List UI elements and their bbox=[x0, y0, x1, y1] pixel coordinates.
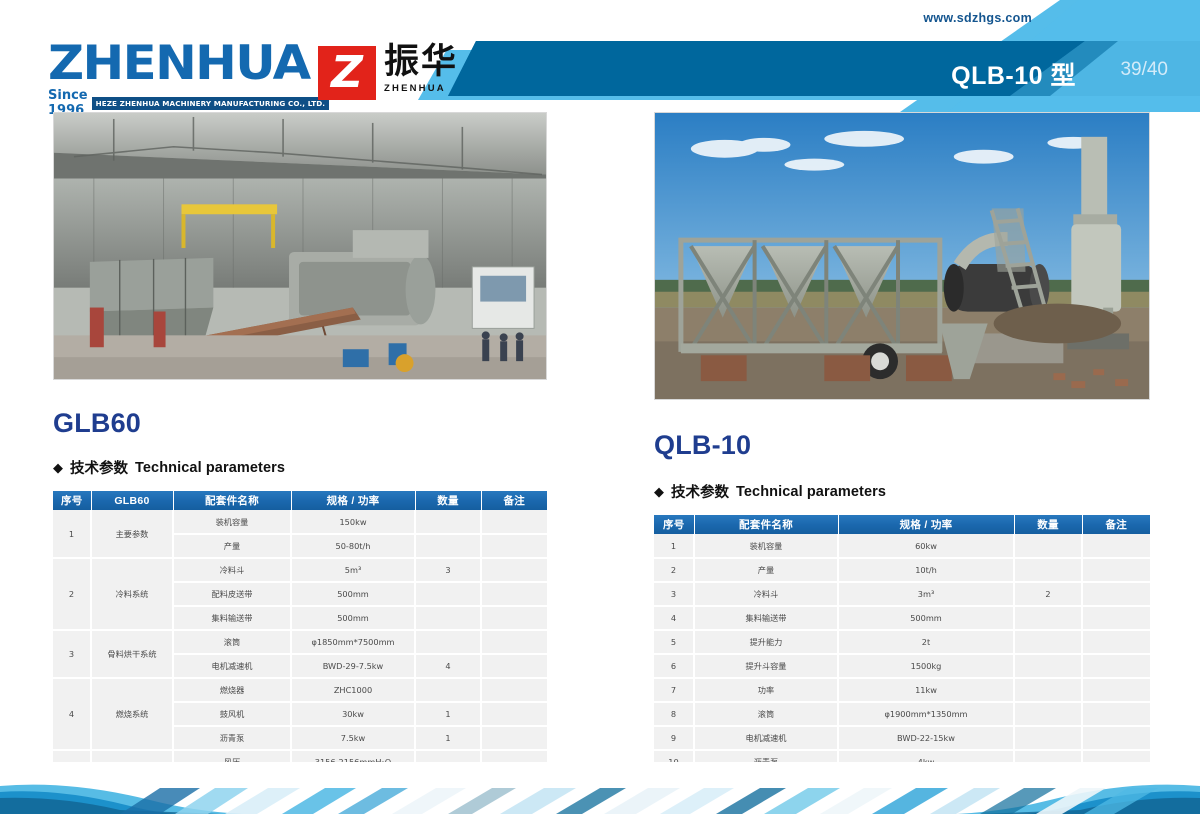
column-header-3: 规格 / 功率 bbox=[838, 515, 1014, 534]
row-index: 1 bbox=[53, 510, 91, 558]
column-header-5: 数量 bbox=[415, 491, 481, 510]
component-spec: 2t bbox=[838, 630, 1014, 654]
left-column: GLB60 ◆ 技术参数 Technical parameters 序号GLB6… bbox=[53, 112, 547, 814]
component-qty bbox=[415, 630, 481, 654]
component-qty bbox=[415, 582, 481, 606]
component-qty: 3 bbox=[415, 558, 481, 582]
table-row: 1装机容量60kw bbox=[654, 534, 1150, 558]
right-section-cn: 技术参数 bbox=[671, 481, 729, 502]
brand-z-letter: Z bbox=[318, 46, 376, 100]
component-qty: 1 bbox=[415, 726, 481, 750]
component-note bbox=[481, 510, 547, 534]
column-header-5: 备注 bbox=[1082, 515, 1150, 534]
component-name: 电机减速机 bbox=[173, 654, 291, 678]
footer-ribbon-graphic bbox=[0, 762, 1200, 814]
row-group-name: 冷料系统 bbox=[91, 558, 173, 630]
table-row: 1主要参数装机容量150kw bbox=[53, 510, 547, 534]
table-row: 8滚筒φ1900mm*1350mm bbox=[654, 702, 1150, 726]
qlb10-plant-photo bbox=[654, 112, 1150, 400]
component-name: 冷料斗 bbox=[173, 558, 291, 582]
page-number: 39/40 bbox=[1120, 59, 1168, 81]
right-column: QLB-10 ◆ 技术参数 Technical parameters 序号配套件… bbox=[654, 112, 1150, 814]
row-group-name: 燃烧系统 bbox=[91, 678, 173, 750]
row-index: 4 bbox=[53, 678, 91, 750]
component-name: 提升能力 bbox=[694, 630, 838, 654]
component-name: 集料输送带 bbox=[173, 606, 291, 630]
column-header-6: 备注 bbox=[481, 491, 547, 510]
component-name: 冷料斗 bbox=[694, 582, 838, 606]
component-name: 装机容量 bbox=[694, 534, 838, 558]
component-qty bbox=[1014, 726, 1082, 750]
component-name: 功率 bbox=[694, 678, 838, 702]
page-root: www.sdzhgs.com ZHENHUA Since 1996 HEZE Z… bbox=[0, 0, 1200, 814]
component-spec: BWD-29-7.5kw bbox=[291, 654, 415, 678]
table-row: 6提升斗容量1500kg bbox=[654, 654, 1150, 678]
component-qty: 4 bbox=[415, 654, 481, 678]
table-row: 4集料输送带500mm bbox=[654, 606, 1150, 630]
right-section-heading: ◆ 技术参数 Technical parameters bbox=[654, 481, 1150, 502]
component-note bbox=[1082, 582, 1150, 606]
header-model-title: QLB-10 型 bbox=[951, 56, 1076, 92]
diamond-bullet-icon: ◆ bbox=[53, 461, 63, 474]
website-url[interactable]: www.sdzhgs.com bbox=[923, 11, 1032, 25]
component-spec: 3m³ bbox=[838, 582, 1014, 606]
component-spec: 500mm bbox=[291, 582, 415, 606]
brand-chinese-name: 振华 bbox=[384, 44, 458, 81]
brand-chinese: 振华 ZHENHUA bbox=[384, 44, 458, 94]
row-index: 4 bbox=[654, 606, 694, 630]
left-model-title: GLB60 bbox=[53, 408, 547, 439]
component-note bbox=[481, 630, 547, 654]
component-spec: 10t/h bbox=[838, 558, 1014, 582]
page-footer-ribbon bbox=[0, 762, 1200, 814]
table-row: 2产量10t/h bbox=[654, 558, 1150, 582]
component-spec: 60kw bbox=[838, 534, 1014, 558]
component-qty bbox=[1014, 654, 1082, 678]
component-spec: 500mm bbox=[838, 606, 1014, 630]
component-qty bbox=[1014, 534, 1082, 558]
row-group-name: 主要参数 bbox=[91, 510, 173, 558]
component-name: 燃烧器 bbox=[173, 678, 291, 702]
table-header-row: 序号GLB60配套件名称规格 / 功率数量备注 bbox=[53, 491, 547, 510]
component-qty bbox=[1014, 558, 1082, 582]
component-spec: φ1850mm*7500mm bbox=[291, 630, 415, 654]
component-spec: 1500kg bbox=[838, 654, 1014, 678]
component-qty bbox=[415, 678, 481, 702]
component-name: 产量 bbox=[173, 534, 291, 558]
component-name: 集料输送带 bbox=[694, 606, 838, 630]
component-spec: 500mm bbox=[291, 606, 415, 630]
component-qty bbox=[1014, 702, 1082, 726]
row-index: 3 bbox=[53, 630, 91, 678]
right-model-title: QLB-10 bbox=[654, 430, 1150, 461]
left-section-en: Technical parameters bbox=[135, 460, 285, 476]
component-note bbox=[481, 702, 547, 726]
component-qty bbox=[1014, 606, 1082, 630]
component-note bbox=[481, 606, 547, 630]
component-spec: 11kw bbox=[838, 678, 1014, 702]
component-spec: BWD-22-15kw bbox=[838, 726, 1014, 750]
component-note bbox=[1082, 702, 1150, 726]
component-name: 沥青泵 bbox=[173, 726, 291, 750]
component-spec: ZHC1000 bbox=[291, 678, 415, 702]
column-header-2: 配套件名称 bbox=[694, 515, 838, 534]
component-qty: 1 bbox=[415, 702, 481, 726]
component-note bbox=[481, 558, 547, 582]
component-name: 鼓风机 bbox=[173, 702, 291, 726]
component-spec: 5m³ bbox=[291, 558, 415, 582]
component-note bbox=[1082, 630, 1150, 654]
column-header-1: 序号 bbox=[53, 491, 91, 510]
table-row: 3骨料烘干系统滚筒φ1850mm*7500mm bbox=[53, 630, 547, 654]
component-note bbox=[1082, 534, 1150, 558]
row-index: 5 bbox=[654, 630, 694, 654]
component-spec: 150kw bbox=[291, 510, 415, 534]
row-index: 6 bbox=[654, 654, 694, 678]
component-qty: 2 bbox=[1014, 582, 1082, 606]
component-name: 滚筒 bbox=[694, 702, 838, 726]
component-note bbox=[481, 678, 547, 702]
table-row: 2冷料系统冷料斗5m³3 bbox=[53, 558, 547, 582]
component-name: 产量 bbox=[694, 558, 838, 582]
component-name: 电机减速机 bbox=[694, 726, 838, 750]
component-note bbox=[1082, 606, 1150, 630]
component-note bbox=[481, 582, 547, 606]
page-header: www.sdzhgs.com ZHENHUA Since 1996 HEZE Z… bbox=[0, 0, 1200, 108]
component-note bbox=[1082, 726, 1150, 750]
table-row: 7功率11kw bbox=[654, 678, 1150, 702]
table-row: 4燃烧系统燃烧器ZHC1000 bbox=[53, 678, 547, 702]
component-note bbox=[481, 726, 547, 750]
left-section-cn: 技术参数 bbox=[70, 457, 128, 478]
row-group-name: 骨料烘干系统 bbox=[91, 630, 173, 678]
component-spec: 30kw bbox=[291, 702, 415, 726]
column-header-4: 规格 / 功率 bbox=[291, 491, 415, 510]
logo-company-name: HEZE ZHENHUA MACHINERY MANUFACTURING CO.… bbox=[92, 97, 329, 110]
component-note bbox=[1082, 654, 1150, 678]
component-qty bbox=[415, 606, 481, 630]
component-qty bbox=[415, 534, 481, 558]
row-index: 8 bbox=[654, 702, 694, 726]
component-name: 滚筒 bbox=[173, 630, 291, 654]
table-row: 3冷料斗3m³2 bbox=[654, 582, 1150, 606]
row-index: 1 bbox=[654, 534, 694, 558]
component-note bbox=[1082, 678, 1150, 702]
component-name: 装机容量 bbox=[173, 510, 291, 534]
component-spec: 50-80t/h bbox=[291, 534, 415, 558]
company-logo[interactable]: ZHENHUA Since 1996 HEZE ZHENHUA MACHINER… bbox=[48, 40, 310, 102]
table-row: 9电机减速机BWD-22-15kw bbox=[654, 726, 1150, 750]
row-index: 7 bbox=[654, 678, 694, 702]
row-index: 2 bbox=[53, 558, 91, 630]
diamond-bullet-icon: ◆ bbox=[654, 485, 664, 498]
component-name: 配料皮送带 bbox=[173, 582, 291, 606]
component-qty bbox=[415, 510, 481, 534]
component-note bbox=[1082, 558, 1150, 582]
left-section-heading: ◆ 技术参数 Technical parameters bbox=[53, 457, 547, 478]
table-row: 5提升能力2t bbox=[654, 630, 1150, 654]
column-header-3: 配套件名称 bbox=[173, 491, 291, 510]
component-note bbox=[481, 654, 547, 678]
component-name: 提升斗容量 bbox=[694, 654, 838, 678]
column-header-4: 数量 bbox=[1014, 515, 1082, 534]
component-qty bbox=[1014, 630, 1082, 654]
brand-z-mark-icon: Z bbox=[318, 46, 376, 100]
row-index: 3 bbox=[654, 582, 694, 606]
row-index: 9 bbox=[654, 726, 694, 750]
right-section-en: Technical parameters bbox=[736, 484, 886, 500]
glb60-plant-photo bbox=[53, 112, 547, 380]
component-qty bbox=[1014, 678, 1082, 702]
row-index: 2 bbox=[654, 558, 694, 582]
brand-chinese-pinyin: ZHENHUA bbox=[384, 83, 458, 94]
column-header-2: GLB60 bbox=[91, 491, 173, 510]
component-spec: φ1900mm*1350mm bbox=[838, 702, 1014, 726]
component-note bbox=[481, 534, 547, 558]
logo-wordmark: ZHENHUA bbox=[48, 40, 326, 87]
component-spec: 7.5kw bbox=[291, 726, 415, 750]
column-header-1: 序号 bbox=[654, 515, 694, 534]
table-header-row: 序号配套件名称规格 / 功率数量备注 bbox=[654, 515, 1150, 534]
